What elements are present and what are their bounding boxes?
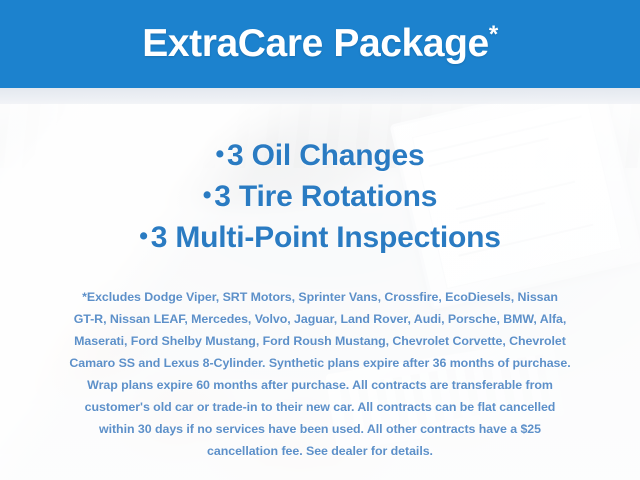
disclaimer-line: within 30 days if no services have been … bbox=[28, 418, 612, 440]
disclaimer-text: *Excludes Dodge Viper, SRT Motors, Sprin… bbox=[28, 286, 612, 462]
extracare-package-ad: ExtraCare Package* •3 Oil Changes •3 Tir… bbox=[0, 0, 640, 480]
list-item: •3 Oil Changes bbox=[0, 136, 640, 177]
disclaimer-line: *Excludes Dodge Viper, SRT Motors, Sprin… bbox=[28, 286, 612, 308]
disclaimer-line: Maserati, Ford Shelby Mustang, Ford Rous… bbox=[28, 330, 612, 352]
list-item: •3 Tire Rotations bbox=[0, 177, 640, 218]
disclaimer-line: cancellation fee. See dealer for details… bbox=[28, 440, 612, 462]
list-item-label: 3 Tire Rotations bbox=[214, 180, 437, 213]
bullet-dot-icon: • bbox=[139, 222, 151, 250]
header-band: ExtraCare Package* bbox=[0, 0, 640, 88]
disclaimer-line: GT-R, Nissan LEAF, Mercedes, Volvo, Jagu… bbox=[28, 308, 612, 330]
page-title: ExtraCare Package* bbox=[0, 0, 640, 88]
disclaimer-line: Wrap plans expire 60 months after purcha… bbox=[28, 374, 612, 396]
bullet-dot-icon: • bbox=[215, 140, 227, 168]
list-item-label: 3 Oil Changes bbox=[227, 139, 424, 172]
disclaimer-line: Camaro SS and Lexus 8-Cylinder. Syntheti… bbox=[28, 352, 612, 374]
list-item-label: 3 Multi-Point Inspections bbox=[151, 221, 501, 254]
list-item: •3 Multi-Point Inspections bbox=[0, 218, 640, 259]
content-area: •3 Oil Changes •3 Tire Rotations •3 Mult… bbox=[0, 88, 640, 480]
disclaimer-line: customer's old car or trade-in to their … bbox=[28, 396, 612, 418]
page-title-text: ExtraCare Package bbox=[142, 22, 489, 66]
bullet-dot-icon: • bbox=[203, 181, 215, 209]
benefits-list: •3 Oil Changes •3 Tire Rotations •3 Mult… bbox=[0, 136, 640, 259]
